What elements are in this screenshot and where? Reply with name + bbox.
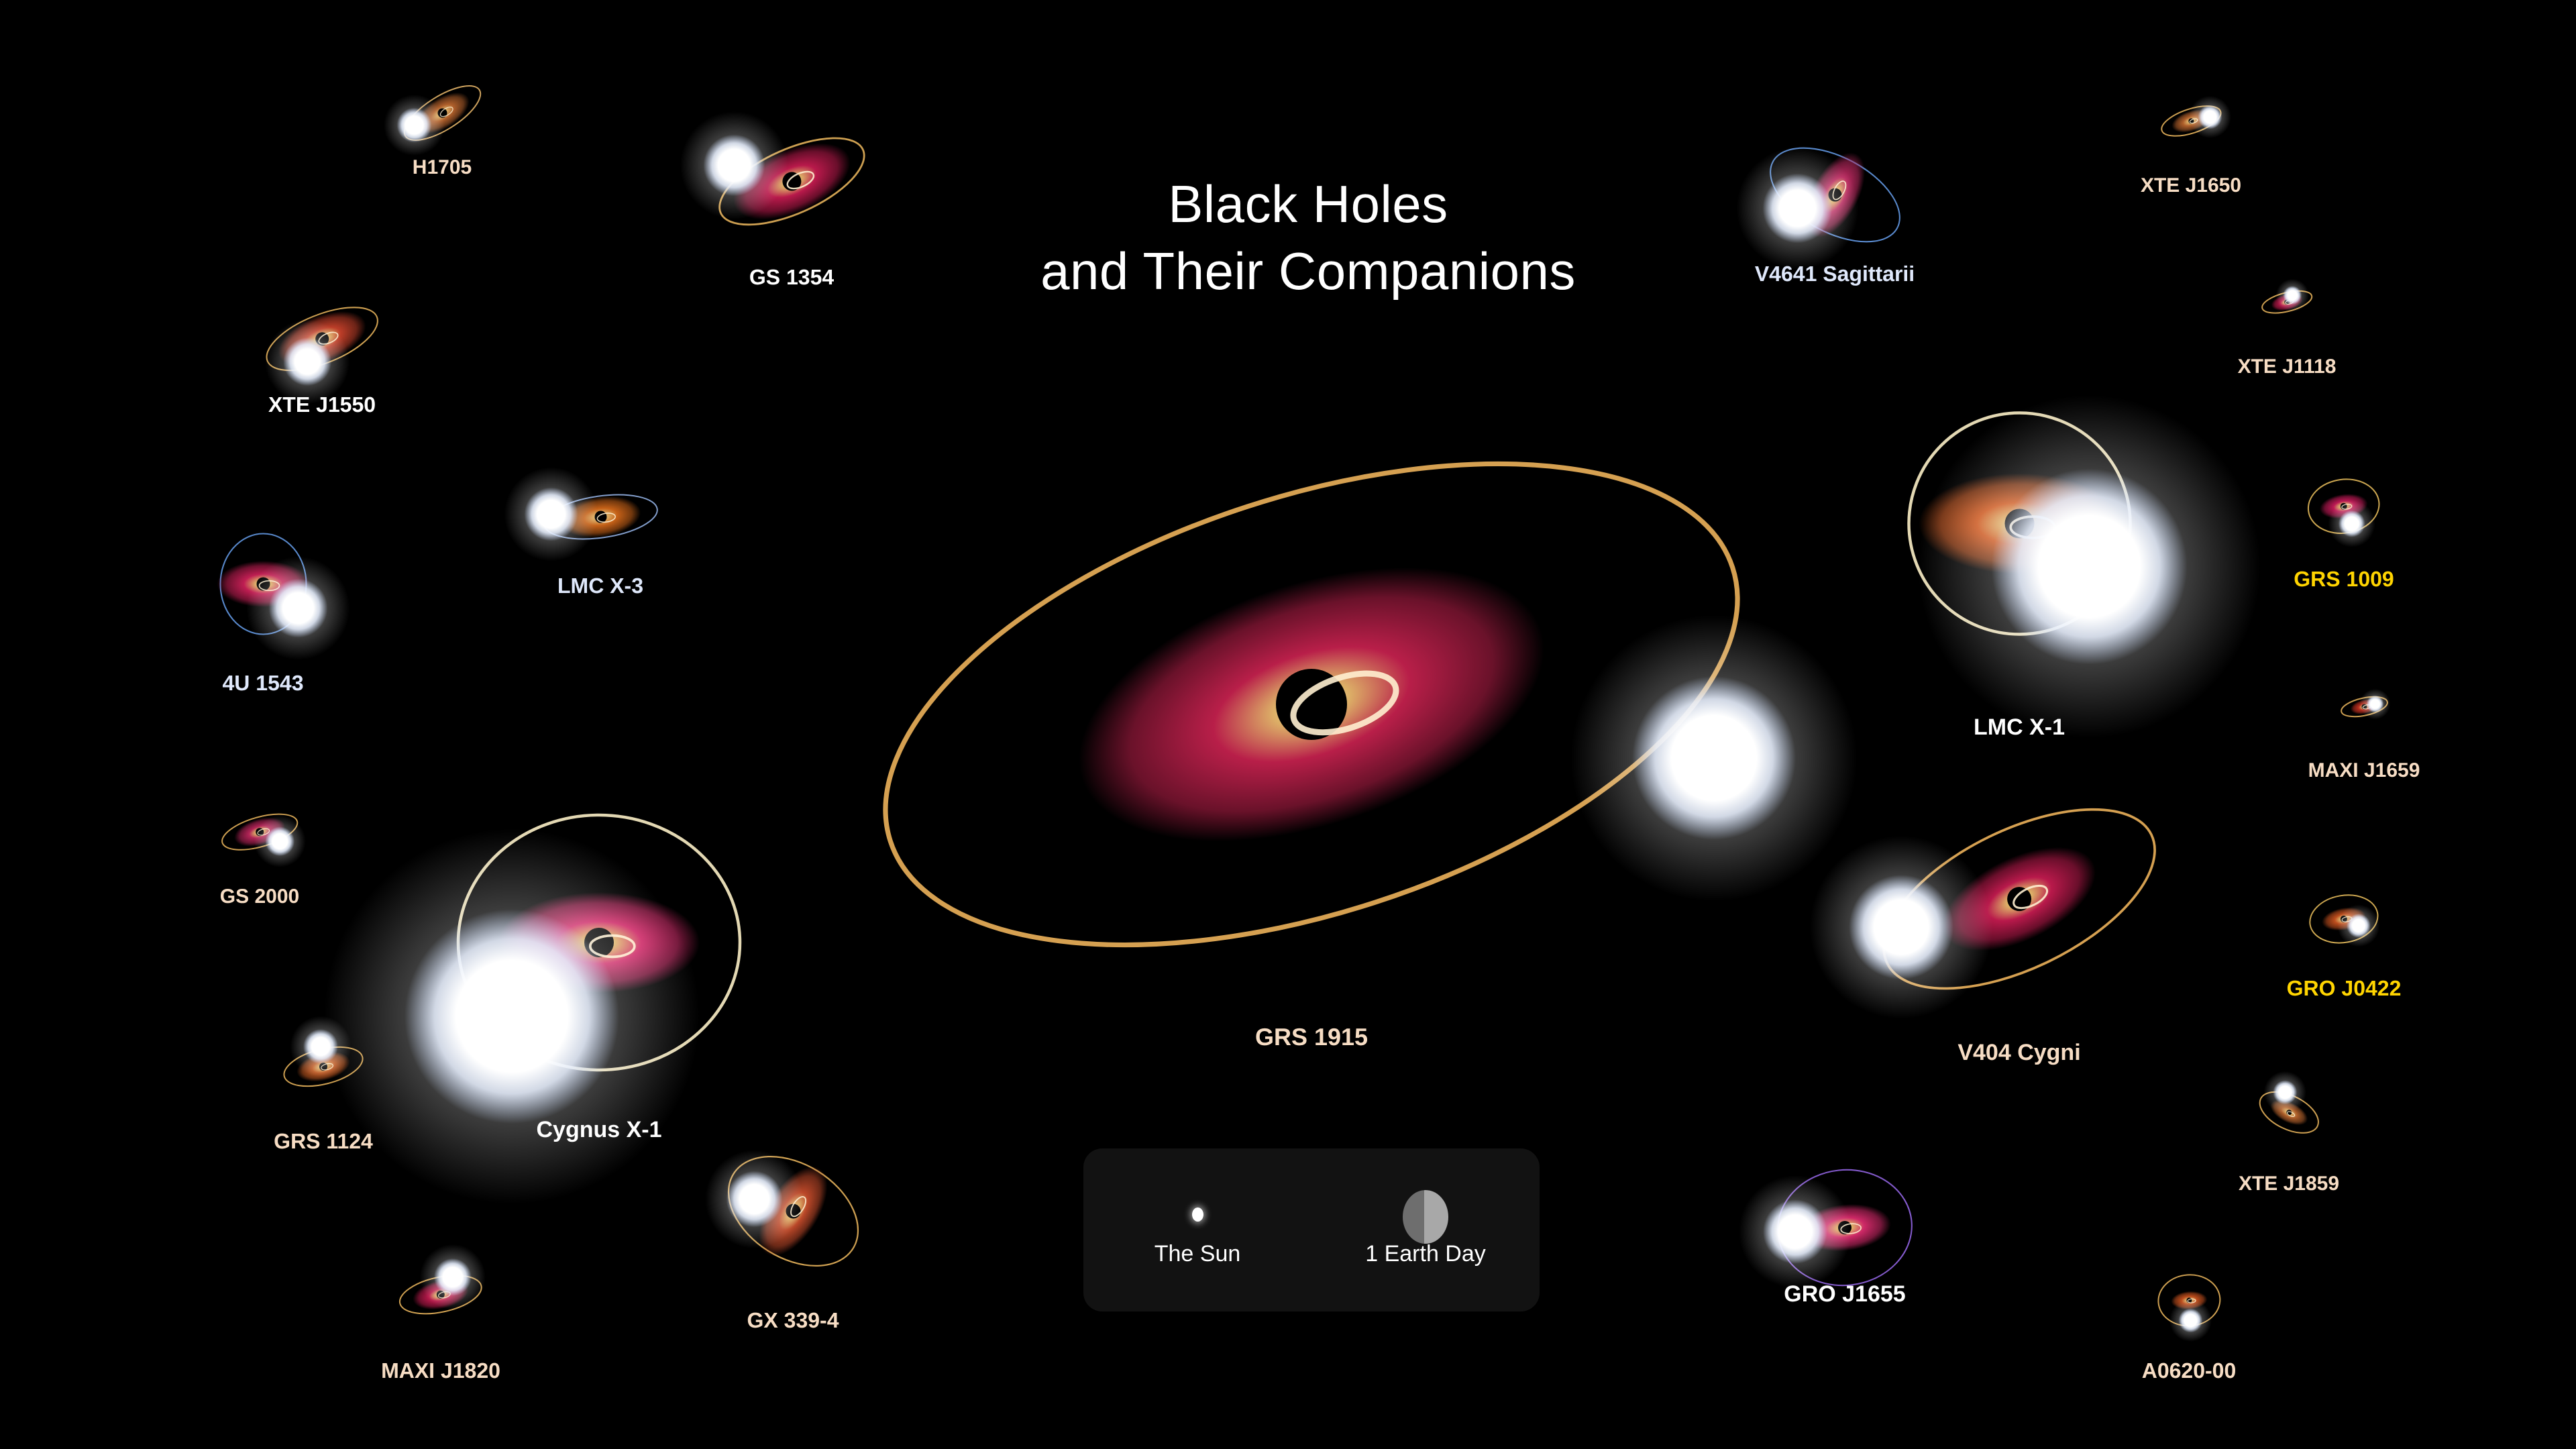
system-art-xtej1650 [2160,109,2222,133]
system-graphic-groj1655 [1664,1056,2026,1399]
system-label-xtej1550[interactable]: XTE J1550 [268,392,376,417]
companion-star [2328,500,2375,547]
system-label-grs1915[interactable]: GRS 1915 [1255,1023,1368,1051]
sun-dot-icon [1192,1207,1203,1222]
system-label-groj0422[interactable]: GRO J0422 [2287,976,2402,1001]
system-art-v404cygni [1872,830,2166,968]
scale-legend-panel: The Sun 1 Earth Day [1083,1148,1540,1311]
system-label-groj1655[interactable]: GRO J1655 [1784,1281,1905,1307]
system-art-xtej1550 [263,315,381,363]
system-art-4u1543 [220,533,306,634]
companion-star [1810,836,1993,1019]
legend-label-earth-day: 1 Earth Day [1311,1241,1540,1267]
black-hole-infographic-canvas: Black Holes and Their Companions H1705GS… [0,0,2576,1449]
system-art-groj0422 [2310,896,2378,943]
companion-star [265,319,350,404]
system-label-a062000[interactable]: A0620-00 [2142,1358,2237,1383]
system-art-grs1915 [869,496,1754,912]
companion-star [2338,905,2380,947]
system-art-grs1009 [2308,480,2379,533]
companion-star [2359,688,2390,719]
companion-star [1736,147,1858,269]
system-label-xtej1859[interactable]: XTE J1859 [2239,1173,2339,1195]
companion-star [2264,1071,2306,1114]
system-label-grs1009[interactable]: GRS 1009 [2294,567,2394,592]
system-art-xtej1859 [2257,1095,2320,1129]
legend-item-sun: The Sun [1083,1148,1311,1311]
companion-star [2169,1299,2212,1342]
system-label-xtej1650[interactable]: XTE J1650 [2141,174,2241,197]
system-art-v4641 [1797,124,1872,265]
legend-label-sun: The Sun [1083,1241,1311,1267]
system-art-groj1655 [1778,1170,1912,1285]
system-art-lmcx1 [1909,413,2130,634]
system-art-a062000 [2158,1275,2220,1326]
companion-star [1739,1175,1851,1288]
legend-item-earth-day: 1 Earth Day [1311,1148,1540,1311]
half-lit-disc-icon [1403,1190,1448,1244]
companion-star [2189,96,2231,138]
